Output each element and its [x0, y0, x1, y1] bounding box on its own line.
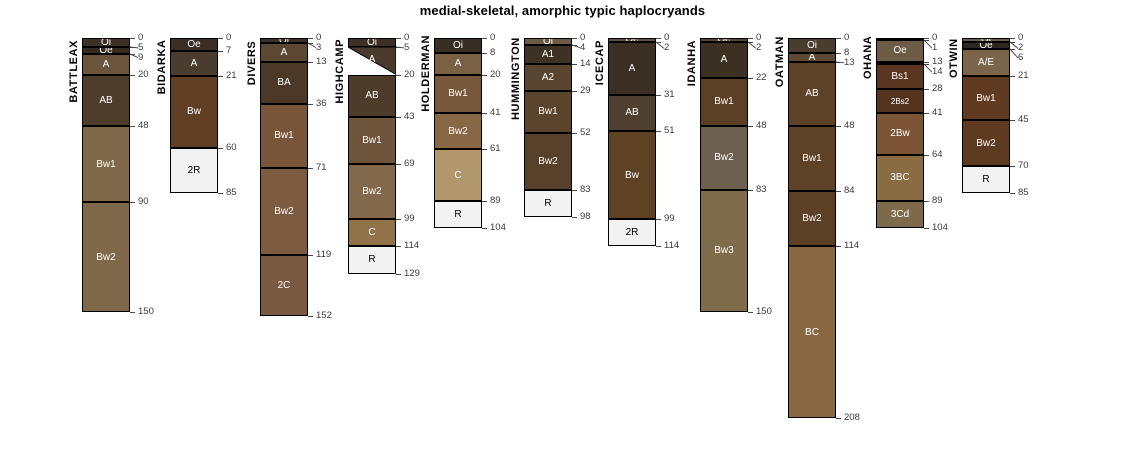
depth-tick	[130, 54, 135, 55]
depth-tick	[308, 43, 313, 44]
depth-tick	[748, 190, 753, 191]
horizon-label: Oi	[435, 41, 481, 51]
horizon-label: R	[525, 199, 571, 209]
horizon-label: Bw2	[525, 157, 571, 167]
horizon-label: 2C	[261, 281, 307, 291]
horizon-label: C	[435, 171, 481, 181]
horizon-label: A	[435, 59, 481, 69]
depth-label: 104	[490, 223, 506, 233]
profile-name-label: BIDARKA	[156, 38, 168, 95]
horizon-label: Bw1	[261, 131, 307, 141]
depth-label: 83	[756, 185, 767, 195]
horizon-label: A	[609, 64, 655, 74]
horizon-block: 2Bw	[876, 113, 924, 155]
depth-tick	[130, 126, 135, 127]
horizon-block: A	[434, 53, 482, 75]
depth-label: 20	[404, 70, 415, 80]
horizon-block: 3Cd	[876, 201, 924, 228]
depth-label: 85	[1018, 188, 1029, 198]
horizon-block: AB	[348, 75, 396, 117]
horizon-block: Bw1	[962, 76, 1010, 120]
depth-label: 89	[932, 196, 943, 206]
horizon-label: R	[963, 175, 1009, 185]
depth-label: 84	[844, 186, 855, 196]
horizon-label: Bw2	[435, 127, 481, 137]
horizon-block: 2Bs2	[876, 89, 924, 113]
depth-tick	[396, 246, 401, 247]
depth-label: 1	[932, 43, 937, 53]
horizon-label: Bw2	[83, 253, 129, 263]
horizon-label: AB	[789, 89, 835, 99]
horizon-block: Bs1	[876, 64, 924, 90]
horizon-label: A	[171, 59, 217, 69]
horizon-label: 3Cd	[877, 210, 923, 220]
horizon-label: AB	[83, 96, 129, 106]
depth-tick	[396, 38, 401, 39]
depth-label: 45	[1018, 115, 1029, 125]
depth-tick	[572, 133, 577, 134]
horizon-label: Oe	[83, 47, 129, 54]
depth-tick	[218, 51, 223, 52]
horizon-block: 2R	[608, 219, 656, 246]
horizon-label: Bw3	[701, 246, 747, 256]
horizon-label: 2R	[171, 166, 217, 176]
depth-tick	[308, 62, 313, 63]
depth-label: 69	[404, 159, 415, 169]
depth-tick	[308, 168, 313, 169]
horizon-block: Oe	[170, 38, 218, 51]
horizon-block: Bw2	[962, 120, 1010, 166]
depth-tick	[396, 274, 401, 275]
horizon-block: A	[170, 51, 218, 77]
horizon-label: Bw1	[83, 160, 129, 170]
depth-tick	[572, 217, 577, 218]
profile-name-label: DIVERS	[246, 38, 258, 87]
horizon-block: Bw2	[700, 126, 748, 190]
depth-label: 70	[1018, 161, 1029, 171]
depth-tick	[482, 201, 487, 202]
horizon-label: BC	[789, 328, 835, 338]
depth-tick	[396, 75, 401, 76]
horizon-block: Bw1	[700, 78, 748, 126]
depth-label: 36	[316, 99, 327, 109]
horizon-label: Oi	[349, 38, 395, 47]
horizon-label: Bw1	[789, 154, 835, 164]
horizon-label: Oi	[789, 41, 835, 51]
depth-label: 3	[316, 43, 321, 53]
profile-name-label: OTWIN	[948, 38, 960, 79]
depth-tick	[1010, 193, 1015, 194]
depth-label: 60	[226, 143, 237, 153]
depth-tick	[836, 246, 841, 247]
depth-label: 119	[316, 250, 331, 260]
depth-label: 22	[756, 73, 767, 83]
horizon-label: Bw2	[349, 187, 395, 197]
depth-tick	[130, 47, 135, 48]
depth-label: 208	[844, 413, 860, 423]
horizon-block: Bw	[608, 131, 656, 219]
depth-label: 114	[664, 241, 679, 251]
depth-tick	[836, 418, 841, 419]
horizon-label: Bw1	[701, 97, 747, 107]
horizon-label: Oi	[83, 38, 129, 47]
horizon-label: A	[261, 48, 307, 58]
horizon-label: Bw2	[963, 139, 1009, 149]
depth-tick	[748, 312, 753, 313]
horizon-label: Bw2	[261, 207, 307, 217]
horizon-block: Oe	[82, 47, 130, 54]
horizon-block: C	[434, 149, 482, 200]
depth-tick	[656, 95, 661, 96]
horizon-block: A	[82, 54, 130, 74]
depth-label: 6	[1018, 53, 1023, 63]
horizon-block: 2R	[170, 148, 218, 194]
depth-tick	[656, 219, 661, 220]
profile-name-label: OHANA	[862, 38, 874, 79]
depth-label: 14	[932, 67, 943, 77]
horizon-label: Bw1	[435, 89, 481, 99]
profile-name-label: HIGHCAMP	[334, 38, 346, 104]
depth-label: 0	[490, 33, 495, 43]
horizon-label: Bw1	[349, 136, 395, 146]
depth-tick	[130, 38, 135, 39]
depth-tick	[836, 53, 841, 54]
depth-label: 21	[226, 71, 237, 81]
depth-tick	[130, 75, 135, 76]
depth-tick	[748, 78, 753, 79]
horizon-block: Bw1	[434, 75, 482, 113]
depth-tick	[396, 47, 401, 48]
horizon-block: BC	[788, 246, 836, 418]
depth-label: 61	[490, 144, 501, 154]
depth-label: 21	[1018, 71, 1029, 81]
horizon-block: Oi	[524, 38, 572, 45]
soil-profile-chart: BATTLEAXOiOeAABBw1Bw2059204890150BIDARKA…	[0, 0, 1125, 450]
horizon-block: BA	[260, 62, 308, 104]
horizon-block: 2C	[260, 255, 308, 315]
depth-tick	[1010, 49, 1015, 50]
depth-tick	[482, 38, 487, 39]
depth-tick	[482, 113, 487, 114]
depth-label: 71	[316, 163, 327, 173]
horizon-block: Bw2	[348, 164, 396, 219]
depth-tick	[924, 40, 929, 41]
depth-tick	[924, 64, 929, 65]
horizon-block: Bw3	[700, 190, 748, 312]
horizon-block: Bw2	[788, 191, 836, 246]
depth-label: 13	[316, 57, 327, 67]
horizon-block: Bw1	[524, 91, 572, 133]
horizon-block: Oi	[788, 38, 836, 53]
depth-label: 129	[404, 269, 420, 279]
profile-name-label: HOLDERMAN	[420, 38, 432, 112]
horizon-label: Oe	[877, 46, 923, 56]
horizon-label: Oe	[963, 42, 1009, 49]
depth-label: 90	[138, 197, 149, 207]
horizon-label: AB	[609, 108, 655, 118]
depth-label: 14	[580, 59, 591, 69]
depth-label: 85	[226, 188, 237, 198]
depth-tick	[924, 113, 929, 114]
depth-tick	[1010, 38, 1015, 39]
horizon-block: Bw1	[260, 104, 308, 168]
depth-tick	[924, 155, 929, 156]
horizon-label: A/E	[963, 58, 1009, 68]
horizon-label: R	[435, 210, 481, 220]
depth-tick	[572, 190, 577, 191]
horizon-block: A	[260, 43, 308, 61]
depth-tick	[572, 91, 577, 92]
horizon-block: A/E	[962, 49, 1010, 76]
horizon-block: AB	[608, 95, 656, 132]
horizon-block: Bw	[170, 76, 218, 147]
depth-label: 104	[932, 223, 948, 233]
horizon-block: Bw1	[348, 117, 396, 165]
depth-tick	[130, 312, 135, 313]
depth-tick	[924, 228, 929, 229]
horizon-block: Oe	[876, 40, 924, 62]
horizon-block: R	[434, 201, 482, 228]
depth-tick	[572, 38, 577, 39]
depth-tick	[308, 104, 313, 105]
depth-label: 8	[490, 48, 495, 58]
horizon-block: Bw1	[788, 126, 836, 192]
horizon-label: A1	[525, 50, 571, 60]
depth-tick	[836, 38, 841, 39]
depth-tick	[836, 62, 841, 63]
depth-tick	[656, 42, 661, 43]
horizon-block: AB	[788, 62, 836, 126]
depth-tick	[482, 75, 487, 76]
depth-label: 0	[226, 33, 231, 43]
horizon-block: A	[700, 42, 748, 79]
depth-label: 152	[316, 311, 332, 321]
depth-tick	[1010, 76, 1015, 77]
horizon-block: Oi	[82, 38, 130, 47]
depth-tick	[218, 76, 223, 77]
depth-tick	[482, 149, 487, 150]
horizon-label: Bw2	[789, 214, 835, 224]
horizon-block: Bw2	[260, 168, 308, 256]
horizon-block: Bw1	[82, 126, 130, 203]
depth-label: 20	[490, 70, 501, 80]
depth-label: 98	[580, 212, 591, 222]
horizon-block: R	[962, 166, 1010, 193]
horizon-label: Bw	[609, 171, 655, 181]
depth-label: 51	[664, 126, 675, 136]
horizon-block: A1	[524, 45, 572, 63]
horizon-block: Bw2	[524, 133, 572, 190]
depth-label: 99	[664, 214, 675, 224]
depth-tick	[396, 164, 401, 165]
depth-tick	[308, 255, 313, 256]
depth-tick	[218, 148, 223, 149]
profile-name-label: OATMAN	[774, 38, 786, 87]
depth-label: 150	[756, 307, 772, 317]
depth-label: 13	[932, 57, 943, 67]
profile-name-label: ICECAP	[594, 38, 606, 87]
depth-label: 0	[844, 33, 849, 43]
depth-label: 48	[844, 121, 855, 131]
profile-name-label: IDANHA	[686, 38, 698, 87]
depth-label: 52	[580, 128, 591, 138]
depth-label: 150	[138, 307, 154, 317]
horizon-label: Bw1	[525, 107, 571, 117]
depth-label: 48	[138, 121, 149, 131]
horizon-block: A	[608, 42, 656, 95]
horizon-block: Oi	[434, 38, 482, 53]
depth-label: 31	[664, 90, 675, 100]
depth-tick	[836, 126, 841, 127]
depth-label: 41	[932, 108, 943, 118]
horizon-label: Oe	[171, 40, 217, 50]
horizon-label: Bw	[171, 107, 217, 117]
horizon-label: 2Bw	[877, 129, 923, 139]
depth-tick	[656, 38, 661, 39]
depth-label: 89	[490, 196, 501, 206]
depth-tick	[572, 64, 577, 65]
depth-tick	[656, 246, 661, 247]
depth-label: 9	[138, 53, 143, 63]
horizon-block: Oi	[348, 38, 396, 47]
depth-tick	[1010, 166, 1015, 167]
depth-label: 7	[226, 46, 231, 56]
horizon-block: R	[524, 190, 572, 217]
depth-tick	[482, 53, 487, 54]
horizon-block: AB	[82, 75, 130, 126]
depth-tick	[482, 228, 487, 229]
depth-tick	[748, 126, 753, 127]
horizon-label: 2R	[609, 228, 655, 238]
depth-label: 114	[404, 241, 419, 251]
depth-tick	[1010, 42, 1015, 43]
depth-tick	[748, 38, 753, 39]
depth-tick	[656, 131, 661, 132]
depth-label: 5	[404, 43, 409, 53]
depth-tick	[396, 219, 401, 220]
depth-label: 20	[138, 70, 149, 80]
horizon-label: A	[83, 60, 129, 70]
horizon-label: 2Bs2	[877, 98, 923, 106]
depth-tick	[308, 38, 313, 39]
horizon-label: A	[701, 55, 747, 65]
profile-name-label: BATTLEAX	[68, 38, 80, 104]
depth-tick	[748, 42, 753, 43]
depth-tick	[308, 316, 313, 317]
depth-label: 29	[580, 86, 591, 96]
depth-label: 64	[932, 150, 943, 160]
horizon-block: Oe	[962, 42, 1010, 49]
horizon-label: A	[789, 53, 835, 62]
horizon-block: A	[788, 53, 836, 62]
depth-tick	[572, 45, 577, 46]
profile-name-label: HUMMINGTON	[510, 38, 522, 120]
depth-tick	[396, 117, 401, 118]
depth-tick	[836, 191, 841, 192]
depth-tick	[1010, 120, 1015, 121]
depth-label: 48	[756, 121, 767, 131]
horizon-block: C	[348, 219, 396, 246]
horizon-label: A	[348, 55, 396, 65]
horizon-label: Bw1	[963, 94, 1009, 104]
depth-tick	[924, 89, 929, 90]
horizon-block: A	[348, 47, 396, 74]
depth-label: 83	[580, 185, 591, 195]
horizon-label: Bw2	[701, 153, 747, 163]
horizon-block: A2	[524, 64, 572, 91]
depth-label: 43	[404, 112, 415, 122]
horizon-label: BA	[261, 78, 307, 88]
horizon-label: C	[349, 228, 395, 238]
horizon-label: R	[349, 255, 395, 265]
depth-tick	[130, 202, 135, 203]
horizon-block: 3BC	[876, 155, 924, 201]
depth-label: 8	[844, 48, 849, 58]
horizon-label: A2	[525, 73, 571, 83]
depth-label: 41	[490, 108, 501, 118]
depth-tick	[924, 201, 929, 202]
horizon-block: Bw2	[434, 113, 482, 150]
depth-label: 2	[756, 43, 761, 53]
horizon-label: Oi	[525, 38, 571, 45]
depth-label: 99	[404, 214, 415, 224]
depth-label: 114	[844, 241, 859, 251]
depth-label: 2	[664, 43, 669, 53]
depth-label: 28	[932, 84, 943, 94]
horizon-label: AB	[349, 91, 395, 101]
depth-tick	[218, 193, 223, 194]
horizon-label: 3BC	[877, 173, 923, 183]
horizon-block: R	[348, 246, 396, 273]
depth-tick	[218, 38, 223, 39]
horizon-label: Bs1	[877, 72, 923, 82]
depth-label: 13	[844, 58, 855, 68]
horizon-block: Bw2	[82, 202, 130, 312]
depth-label: 4	[580, 43, 585, 53]
